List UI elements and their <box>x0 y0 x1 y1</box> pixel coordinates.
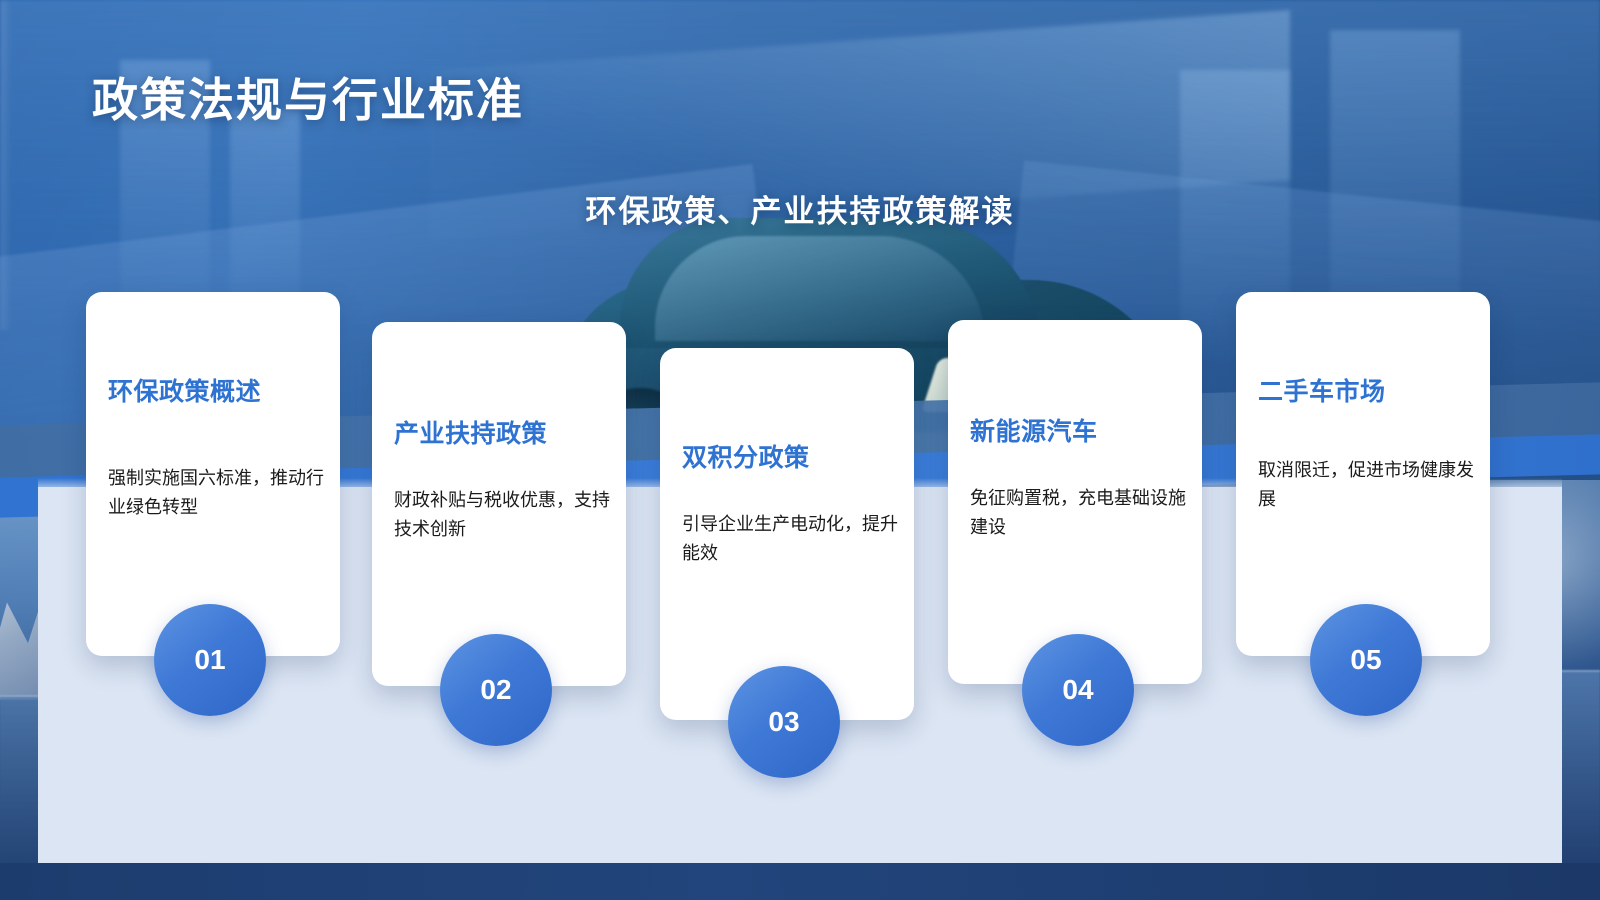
card-body: 免征购置税，充电基础设施建设 <box>970 484 1186 542</box>
policy-card-5[interactable]: 二手车市场 取消限迁，促进市场健康发展 <box>1236 292 1490 656</box>
page-title: 政策法规与行业标准 <box>92 64 524 130</box>
card-body: 引导企业生产电动化，提升能效 <box>682 510 898 568</box>
page-subtitle: 环保政策、产业扶持政策解读 <box>0 186 1600 231</box>
card-body: 取消限迁，促进市场健康发展 <box>1258 456 1474 514</box>
card-number-badge-5: 05 <box>1310 604 1422 716</box>
presentation-slide: 政策法规与行业标准 环保政策、产业扶持政策解读 环保政策概述 强制实施国六标准，… <box>0 0 1600 900</box>
policy-card-1[interactable]: 环保政策概述 强制实施国六标准，推动行业绿色转型 <box>86 292 340 656</box>
card-title: 新能源汽车 <box>970 412 1098 448</box>
card-number-badge-2: 02 <box>440 634 552 746</box>
policy-card-4[interactable]: 新能源汽车 免征购置税，充电基础设施建设 <box>948 320 1202 684</box>
card-number-badge-1: 01 <box>154 604 266 716</box>
policy-card-3[interactable]: 双积分政策 引导企业生产电动化，提升能效 <box>660 348 914 720</box>
bottom-strip <box>0 863 1600 900</box>
card-body: 财政补贴与税收优惠，支持技术创新 <box>394 486 610 544</box>
card-title: 二手车市场 <box>1258 372 1386 408</box>
car-windshield-shape <box>655 236 985 341</box>
card-title: 产业扶持政策 <box>394 414 547 450</box>
card-body: 强制实施国六标准，推动行业绿色转型 <box>108 464 324 522</box>
policy-card-2[interactable]: 产业扶持政策 财政补贴与税收优惠，支持技术创新 <box>372 322 626 686</box>
card-number-badge-3: 03 <box>728 666 840 778</box>
card-title: 双积分政策 <box>682 438 810 474</box>
card-number-badge-4: 04 <box>1022 634 1134 746</box>
card-title: 环保政策概述 <box>108 372 261 408</box>
